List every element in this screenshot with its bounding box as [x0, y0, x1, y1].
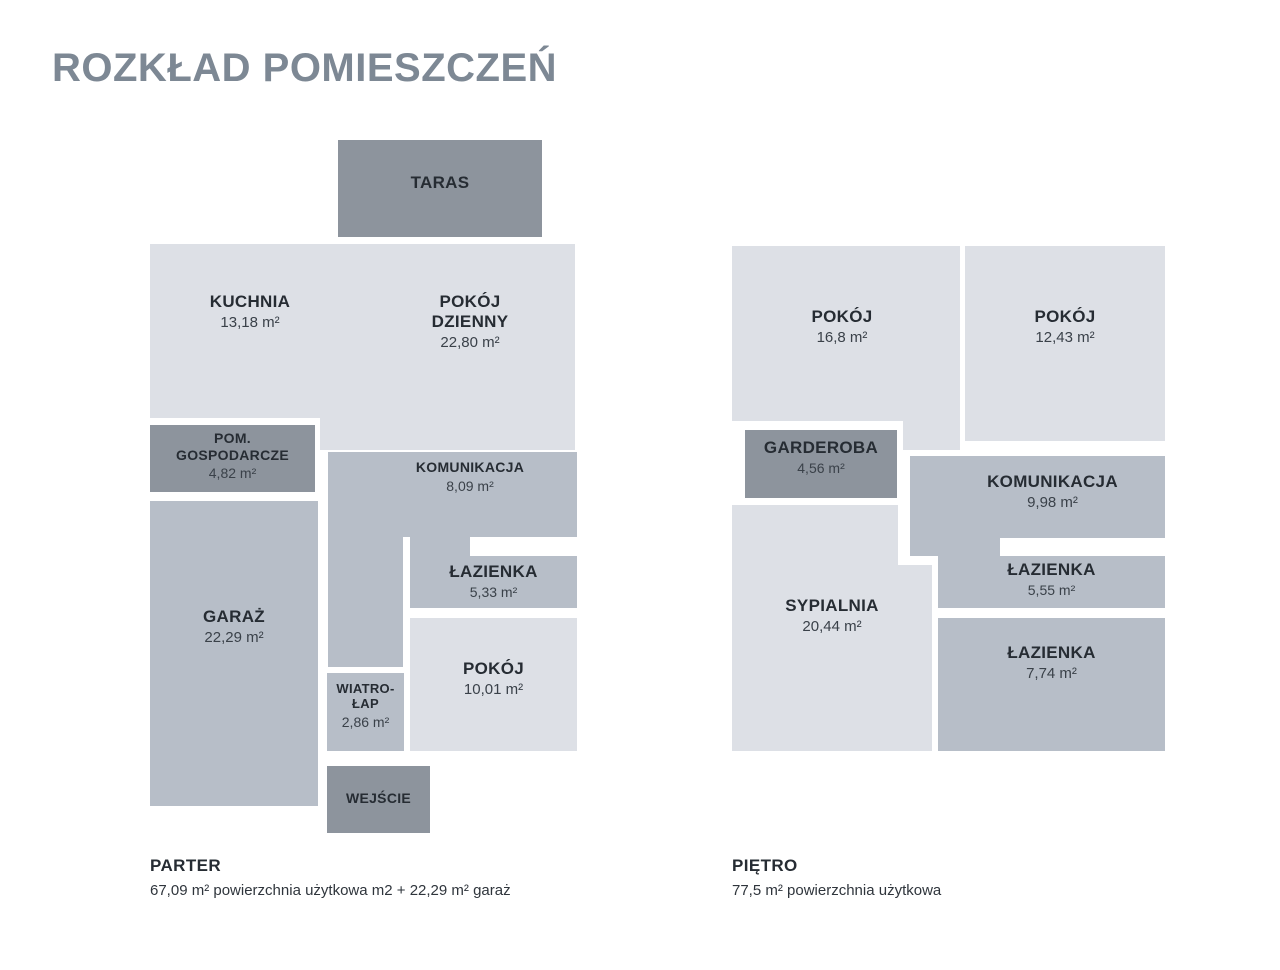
room-name-pom-gospodarcze-line1: POM.: [150, 430, 315, 447]
room-name-kuchnia: KUCHNIA: [160, 292, 340, 312]
room-name-lazienka-parter: ŁAZIENKA: [410, 562, 577, 582]
room-label-lazienka-1-pietro: ŁAZIENKA 5,55 m²: [938, 560, 1165, 599]
room-name-lazienka-1-pietro: ŁAZIENKA: [938, 560, 1165, 580]
shape-komunikacja-parter: [328, 452, 577, 667]
room-name-komunikacja-pietro: KOMUNIKACJA: [940, 472, 1165, 492]
room-area-pokoj-2-pietro: 12,43 m²: [965, 329, 1165, 347]
caption-sub-pietro: 77,5 m² powierzchnia użytkowa: [732, 882, 941, 899]
caption-title-pietro: PIĘTRO: [732, 856, 941, 876]
shape-lazienka-2-pietro: [938, 618, 1165, 751]
room-label-pokoj-dzienny: POKÓJ DZIENNY 22,80 m²: [380, 292, 560, 352]
room-label-garderoba: GARDEROBA 4,56 m²: [745, 438, 897, 477]
room-label-wiatrolap: WIATRO- ŁAP 2,86 m²: [327, 681, 404, 730]
room-label-pom-gospodarcze: POM. GOSPODARCZE 4,82 m²: [150, 430, 315, 482]
room-name-pokoj-dzienny-line2: DZIENNY: [380, 312, 560, 332]
room-name-wiatrolap-line1: WIATRO-: [327, 681, 404, 696]
room-name-pokoj-2-pietro: POKÓJ: [965, 307, 1165, 327]
shape-pokoj-parter: [410, 618, 577, 751]
room-area-pokoj-parter: 10,01 m²: [410, 681, 577, 699]
shape-garderoba: [745, 430, 897, 498]
room-label-komunikacja-parter: KOMUNIKACJA 8,09 m²: [360, 459, 580, 494]
room-name-garderoba: GARDEROBA: [745, 438, 897, 458]
caption-parter: PARTER 67,09 m² powierzchnia użytkowa m2…: [150, 856, 511, 899]
room-area-pokoj-dzienny: 22,80 m²: [380, 334, 560, 352]
shape-komunikacja-pietro: [910, 456, 1165, 556]
room-label-pokoj-1-pietro: POKÓJ 16,8 m²: [752, 307, 932, 347]
shape-lazienka-1-pietro: [938, 556, 1165, 608]
room-name-pokoj-parter: POKÓJ: [410, 659, 577, 679]
room-name-lazienka-2-pietro: ŁAZIENKA: [938, 643, 1165, 663]
room-label-garaz: GARAŻ 22,29 m²: [150, 607, 318, 647]
room-area-lazienka-2-pietro: 7,74 m²: [938, 665, 1165, 683]
shape-kuchnia-pokoj-dzienny: [150, 244, 575, 450]
room-label-pokoj-2-pietro: POKÓJ 12,43 m²: [965, 307, 1165, 347]
room-area-garaz: 22,29 m²: [150, 629, 318, 647]
plan-shapes-layer: [0, 0, 1280, 970]
room-label-pokoj-parter: POKÓJ 10,01 m²: [410, 659, 577, 699]
room-label-lazienka-parter: ŁAZIENKA 5,33 m²: [410, 562, 577, 601]
room-label-wejscie: WEJŚCIE: [327, 790, 430, 807]
room-area-pokoj-1-pietro: 16,8 m²: [752, 329, 932, 347]
room-name-pokoj-1-pietro: POKÓJ: [752, 307, 932, 327]
room-area-lazienka-parter: 5,33 m²: [410, 584, 577, 601]
room-name-taras: TARAS: [338, 173, 542, 193]
room-name-sypialnia: SYPIALNIA: [732, 596, 932, 616]
caption-sub-parter: 67,09 m² powierzchnia użytkowa m2 + 22,2…: [150, 882, 511, 899]
shape-sypialnia: [732, 505, 932, 751]
room-area-komunikacja-pietro: 9,98 m²: [940, 494, 1165, 512]
shape-pom-gospodarcze: [150, 425, 315, 492]
room-name-pom-gospodarcze-line2: GOSPODARCZE: [150, 447, 315, 464]
shape-pokoj-1-pietro: [732, 246, 960, 450]
room-label-taras: TARAS: [338, 173, 542, 193]
room-area-sypialnia: 20,44 m²: [732, 618, 932, 636]
room-area-wiatrolap: 2,86 m²: [327, 714, 404, 731]
room-name-komunikacja-parter: KOMUNIKACJA: [360, 459, 580, 476]
room-label-lazienka-2-pietro: ŁAZIENKA 7,74 m²: [938, 643, 1165, 683]
caption-title-parter: PARTER: [150, 856, 511, 876]
caption-pietro: PIĘTRO 77,5 m² powierzchnia użytkowa: [732, 856, 941, 899]
room-name-pokoj-dzienny-line1: POKÓJ: [380, 292, 560, 312]
page-title: ROZKŁAD POMIESZCZEŃ: [52, 46, 557, 91]
shape-lazienka-parter: [410, 501, 577, 608]
room-name-garaz: GARAŻ: [150, 607, 318, 627]
room-area-garderoba: 4,56 m²: [745, 460, 897, 477]
floor-plan-page: ROZKŁAD POMIESZCZEŃ TARAS: [0, 0, 1280, 970]
shape-wiatrolap: [327, 673, 404, 751]
room-label-kuchnia: KUCHNIA 13,18 m²: [160, 292, 340, 332]
room-name-wiatrolap-line2: ŁAP: [327, 696, 404, 711]
shape-pokoj-2-pietro: [965, 246, 1165, 441]
room-name-wejscie: WEJŚCIE: [327, 790, 430, 807]
room-area-komunikacja-parter: 8,09 m²: [360, 478, 580, 495]
room-area-lazienka-1-pietro: 5,55 m²: [938, 582, 1165, 599]
shape-wejscie: [327, 766, 430, 833]
room-area-kuchnia: 13,18 m²: [160, 314, 340, 332]
shape-garaz: [150, 501, 318, 806]
room-area-pom-gospodarcze: 4,82 m²: [150, 465, 315, 482]
room-label-komunikacja-pietro: KOMUNIKACJA 9,98 m²: [940, 472, 1165, 512]
shape-taras: [338, 140, 542, 237]
room-label-sypialnia: SYPIALNIA 20,44 m²: [732, 596, 932, 636]
